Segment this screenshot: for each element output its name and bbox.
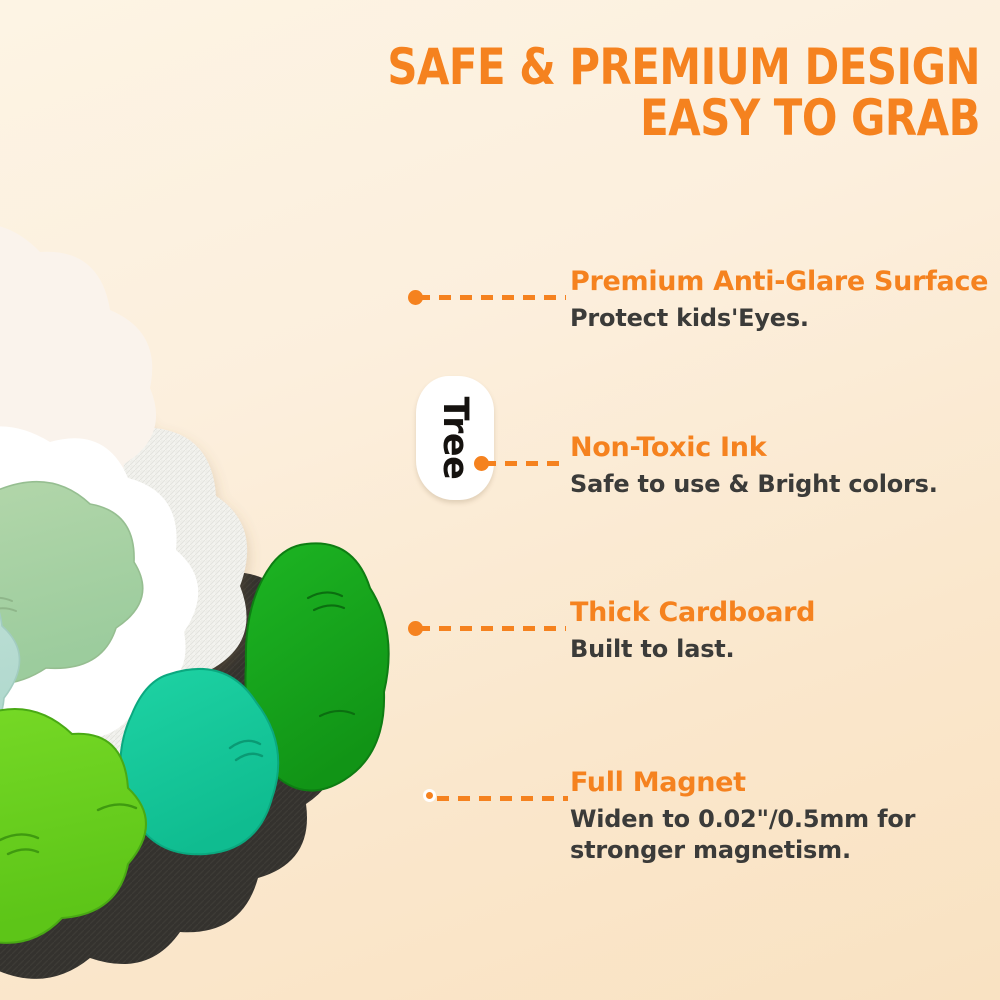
tree-puzzle-illustration <box>0 150 520 1000</box>
tree-name-tag: Tree <box>416 376 494 500</box>
product-infographic: Tree SAFE & PREMIUM DESIGN EASY TO GRAB … <box>0 0 1000 1000</box>
callout-dot-icon <box>423 789 436 802</box>
tree-tag-label: Tree <box>435 397 475 480</box>
callout-dashed-line <box>437 796 568 801</box>
page-title-line1: SAFE & PREMIUM DESIGN <box>301 42 980 93</box>
callout-text-block: Full Magnet Widen to 0.02"/0.5mm for str… <box>570 766 1000 866</box>
callout-text-block: Premium Anti-Glare Surface Protect kids'… <box>570 265 1000 334</box>
feature-title: Full Magnet <box>570 766 1000 800</box>
callout-text-block: Thick Cardboard Built to last. <box>570 596 1000 665</box>
feature-title: Thick Cardboard <box>570 596 1000 630</box>
feature-title: Non-Toxic Ink <box>570 431 1000 465</box>
page-title: SAFE & PREMIUM DESIGN EASY TO GRAB <box>250 42 980 144</box>
callout-dashed-line <box>418 295 566 300</box>
callout-dashed-line <box>418 626 566 631</box>
callout-text-block: Non-Toxic Ink Safe to use & Bright color… <box>570 431 1000 500</box>
feature-subtitle: Protect kids'Eyes. <box>570 303 970 334</box>
feature-subtitle: Built to last. <box>570 634 970 665</box>
feature-subtitle: Safe to use & Bright colors. <box>570 469 970 500</box>
callout-dashed-line <box>484 461 566 466</box>
page-title-line2: EASY TO GRAB <box>301 93 980 144</box>
feature-title: Premium Anti-Glare Surface <box>570 265 1000 299</box>
feature-subtitle: Widen to 0.02"/0.5mm for stronger magnet… <box>570 804 970 866</box>
